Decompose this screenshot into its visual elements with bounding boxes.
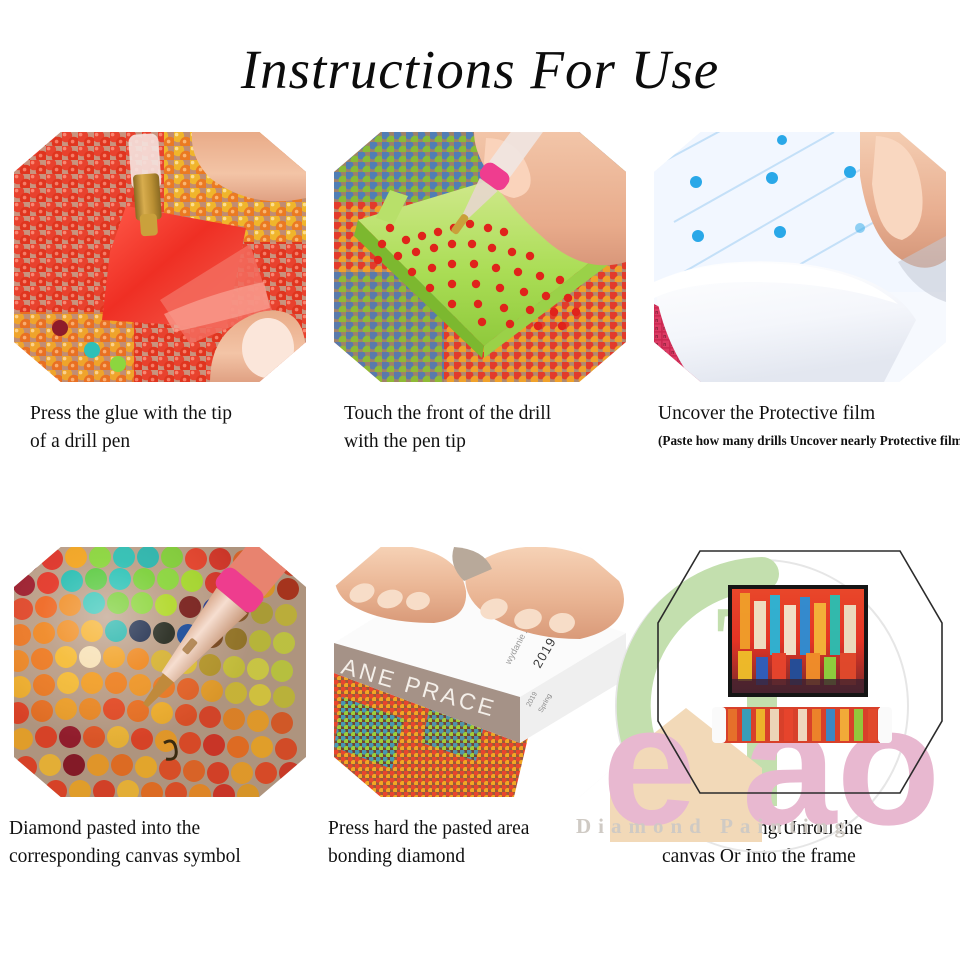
glue-press-illustration <box>14 132 306 382</box>
step-card-4: Diamond pasted into the corresponding ca… <box>0 547 320 797</box>
place-diamond-illustration <box>14 547 306 797</box>
caption-line: of a drill pen <box>30 428 350 456</box>
step-6-caption: After finishing:Unroll the canvas Or Int… <box>640 815 960 872</box>
place-diamond-photo <box>14 547 306 797</box>
press-book-photo: ANE PRACE 2019 SP 2019 Spring wydanie 20… <box>334 547 626 797</box>
protective-film-illustration: n <box>654 132 946 382</box>
step-card-5: ANE PRACE 2019 SP 2019 Spring wydanie 20… <box>320 547 640 797</box>
caption-line: Press hard the pasted area <box>328 815 648 843</box>
step-2-caption: Touch the front of the drill with the pe… <box>320 400 664 457</box>
step-card-6: After finishing:Unroll the canvas Or Int… <box>640 547 960 797</box>
drill-tray-photo <box>334 132 626 382</box>
step-5-photo-wrap: ANE PRACE 2019 SP 2019 Spring wydanie 20… <box>334 547 626 797</box>
framed-painting <box>728 585 868 697</box>
step-card-3: n <box>640 132 960 382</box>
caption-line: with the pen tip <box>344 428 664 456</box>
step-1-photo-wrap <box>14 132 306 382</box>
caption-line: After finishing:Unroll the <box>662 815 960 843</box>
caption-line: canvas Or Into the frame <box>662 843 960 871</box>
step-4-caption: Diamond pasted into the corresponding ca… <box>0 815 329 872</box>
step-3-caption: Uncover the Protective film (Paste how m… <box>640 400 960 452</box>
step-2-photo-wrap <box>334 132 626 382</box>
framed-result-photo <box>654 547 946 797</box>
steps-grid: Press the glue with the tip of a drill p… <box>0 132 960 932</box>
drill-tray-illustration <box>334 132 626 382</box>
caption-line: Diamond pasted into the <box>9 815 329 843</box>
caption-line: Press the glue with the tip <box>30 400 350 428</box>
page-title: Instructions For Use <box>0 42 960 97</box>
glue-press-photo <box>14 132 306 382</box>
step-1-caption: Press the glue with the tip of a drill p… <box>0 400 350 457</box>
caption-line: Touch the front of the drill <box>344 400 664 428</box>
press-book-illustration: ANE PRACE 2019 SP 2019 Spring wydanie 20… <box>334 547 626 797</box>
step-6-photo-wrap <box>654 547 946 797</box>
caption-note: (Paste how many drills Uncover nearly Pr… <box>658 431 960 451</box>
step-card-2: Touch the front of the drill with the pe… <box>320 132 640 382</box>
rolled-canvas <box>712 707 892 743</box>
caption-line: Uncover the Protective film <box>658 400 960 428</box>
step-4-photo-wrap <box>14 547 306 797</box>
step-3-photo-wrap: n <box>654 132 946 382</box>
step-5-caption: Press hard the pasted area bonding diamo… <box>320 815 648 872</box>
caption-line: bonding diamond <box>328 843 648 871</box>
instructions-page: Instructions For Use <box>0 0 960 960</box>
protective-film-photo: n <box>654 132 946 382</box>
step-card-1: Press the glue with the tip of a drill p… <box>0 132 320 382</box>
caption-line: corresponding canvas symbol <box>9 843 329 871</box>
